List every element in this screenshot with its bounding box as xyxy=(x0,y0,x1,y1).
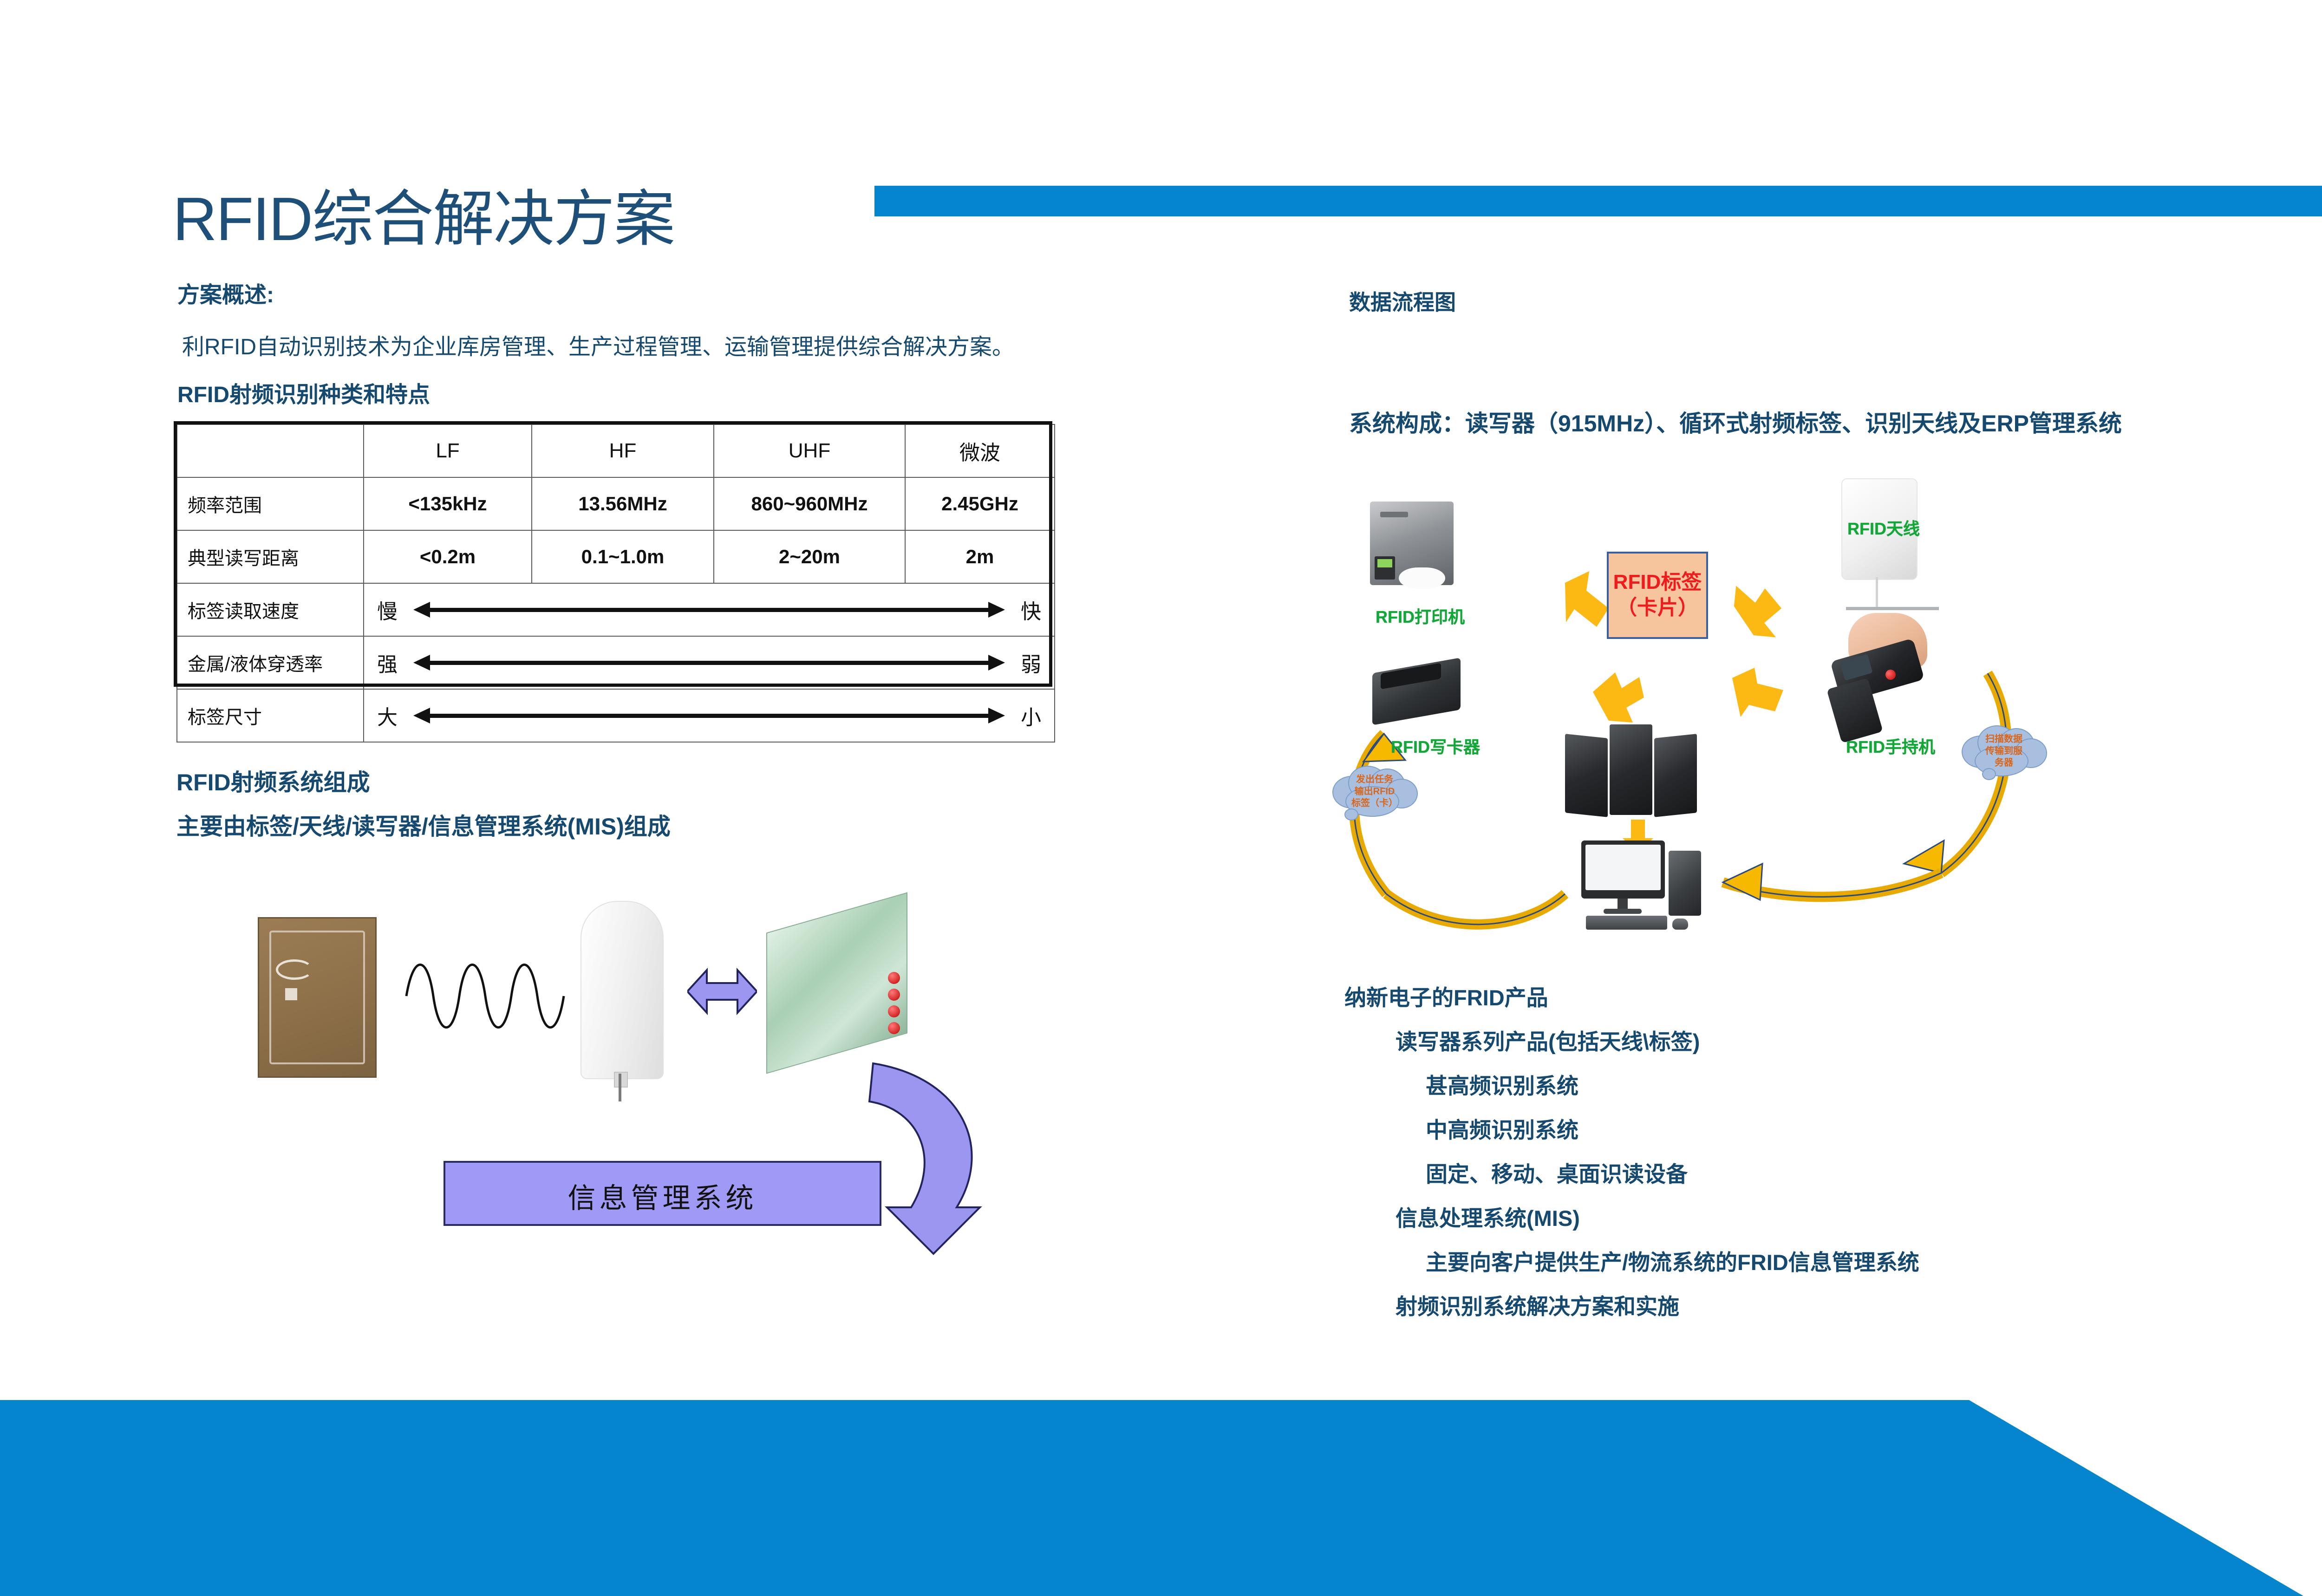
list-item: 主要向客户提供生产/物流系统的FRID信息管理系统 xyxy=(1426,1244,1919,1277)
column-header-lf: LF xyxy=(364,424,532,477)
row-header-read-distance: 典型读写距离 xyxy=(177,530,364,583)
product-outline-list: 纳新电子的FRID产品 读写器系列产品(包括天线\标签) 甚高频识别系统 中高频… xyxy=(1344,980,1919,1333)
page-title: RFID综合解决方案 xyxy=(173,185,674,254)
table-row: 金属/液体穿透率 强 弱 xyxy=(177,636,1055,689)
header-accent-bar xyxy=(874,186,2322,216)
rfid-tag-photo xyxy=(258,917,377,1078)
scale-penetration: 强 弱 xyxy=(364,636,1055,689)
table-row: 标签读取速度 慢 快 xyxy=(177,583,1055,636)
table-row: 频率范围 <135kHz 13.56MHz 860~960MHz 2.45GHz xyxy=(177,477,1055,530)
label-rfid-printer: RFID打印机 xyxy=(1376,604,1465,628)
list-item: 信息处理系统(MIS) xyxy=(1396,1200,1919,1232)
table-corner-cell xyxy=(177,424,364,477)
list-item: 读写器系列产品(包括天线\标签) xyxy=(1396,1024,1919,1056)
rf-wave-icon xyxy=(404,950,567,1042)
scale-right-label: 快 xyxy=(1021,595,1041,625)
rfid-printer-image xyxy=(1370,502,1454,599)
row-header-frequency-range: 频率范围 xyxy=(177,477,364,530)
bidirectional-arrow-icon xyxy=(687,964,757,1019)
list-item: 甚高频识别系统 xyxy=(1426,1068,1919,1100)
row-header-read-speed: 标签读取速度 xyxy=(177,583,364,636)
scan-upload-cloud: 扫描数据传输到服务器 xyxy=(1960,723,2048,779)
rfid-tag-center-box: RFID标签（卡片） xyxy=(1607,552,1708,639)
table-row: 典型读写距离 <0.2m 0.1~1.0m 2~20m 2m xyxy=(177,530,1055,583)
scale-left-label: 强 xyxy=(377,648,398,677)
scale-left-label: 大 xyxy=(377,701,398,730)
scan-upload-cloud-text: 扫描数据传输到服务器 xyxy=(1960,734,2048,769)
cell-freq-lf: <135kHz xyxy=(364,477,532,530)
rfid-frequency-table: LF HF UHF 微波 频率范围 <135kHz 13.56MHz 860~9… xyxy=(176,424,1055,743)
data-flow-diagram: RFID打印机 RFID写卡器 RFID天线 RFID手持机 RFID标签（卡片… xyxy=(1324,474,2053,943)
arrow-tag-to-handheld xyxy=(1732,668,1783,717)
arrow-printer-to-tag xyxy=(1565,571,1609,627)
cell-freq-hf: 13.56MHz xyxy=(532,477,714,530)
scale-right-label: 弱 xyxy=(1021,648,1041,677)
row-header-tag-size: 标签尺寸 xyxy=(177,689,364,742)
list-item: 纳新电子的FRID产品 xyxy=(1344,980,1919,1012)
curved-arrow-icon xyxy=(841,1059,1036,1258)
scale-right-label: 小 xyxy=(1021,701,1041,730)
rfid-hardware-illustration xyxy=(241,873,1031,1198)
row-header-penetration: 金属/液体穿透率 xyxy=(177,636,364,689)
rfid-handheld-image xyxy=(1830,613,1946,752)
mis-box: 信息管理系统 xyxy=(444,1161,881,1226)
system-detail: 主要由标签/天线/读写器/信息管理系统(MIS)组成 xyxy=(176,808,671,841)
label-rfid-handheld: RFID手持机 xyxy=(1846,734,1935,758)
issue-task-cloud: 发出任务输出RFID标签（卡） xyxy=(1331,764,1419,820)
overview-label: 方案概述: xyxy=(177,276,274,309)
desktop-computer-image xyxy=(1581,840,1711,931)
rfid-card-writer-image xyxy=(1372,657,1465,727)
rfid-antenna-photo xyxy=(580,901,662,1096)
table-header-row: LF HF UHF 微波 xyxy=(177,424,1055,477)
double-arrow-icon xyxy=(413,708,1005,723)
list-item: 中高频识别系统 xyxy=(1426,1112,1919,1144)
cell-dist-uhf: 2~20m xyxy=(714,530,905,583)
overview-text: 利RFID自动识别技术为企业库房管理、生产过程管理、运输管理提供综合解决方案。 xyxy=(182,328,1014,361)
cell-dist-hf: 0.1~1.0m xyxy=(532,530,714,583)
cell-dist-microwave: 2m xyxy=(905,530,1055,583)
system-heading: RFID射频系统组成 xyxy=(176,764,370,797)
scale-read-speed: 慢 快 xyxy=(364,583,1055,636)
table-row: 标签尺寸 大 小 xyxy=(177,689,1055,742)
flow-heading: 数据流程图 xyxy=(1349,286,1456,316)
label-rfid-antenna: RFID天线 xyxy=(1847,515,1920,540)
column-header-hf: HF xyxy=(532,424,714,477)
mis-box-label: 信息管理系统 xyxy=(445,1176,880,1216)
issue-task-cloud-text: 发出任务输出RFID标签（卡） xyxy=(1331,774,1419,810)
double-arrow-icon xyxy=(413,602,1005,618)
server-rack-image xyxy=(1565,715,1697,815)
rfid-antenna-image xyxy=(1841,478,1916,618)
label-rfid-card-writer: RFID写卡器 xyxy=(1391,734,1480,758)
list-item: 固定、移动、桌面识读设备 xyxy=(1426,1156,1919,1188)
scale-tag-size: 大 小 xyxy=(364,689,1055,742)
system-composition: 系统构成：读写器（915MHz）、循环式射频标签、识别天线及ERP管理系统 xyxy=(1349,405,2122,438)
cell-freq-microwave: 2.45GHz xyxy=(905,477,1055,530)
column-header-microwave: 微波 xyxy=(905,424,1055,477)
scale-left-label: 慢 xyxy=(377,595,398,625)
rfid-tag-center-label: RFID标签（卡片） xyxy=(1609,569,1706,620)
cell-freq-uhf: 860~960MHz xyxy=(714,477,905,530)
column-header-uhf: UHF xyxy=(714,424,905,477)
types-heading: RFID射频识别种类和特点 xyxy=(177,376,430,409)
arrow-tag-to-antenna xyxy=(1733,584,1782,638)
rfid-reader-photo xyxy=(766,912,906,1066)
double-arrow-icon xyxy=(413,655,1005,671)
list-item: 射频识别系统解决方案和实施 xyxy=(1396,1289,1919,1321)
footer-accent-shape xyxy=(0,1400,2322,1596)
footer-accent-band xyxy=(0,1400,2322,1596)
cell-dist-lf: <0.2m xyxy=(364,530,532,583)
